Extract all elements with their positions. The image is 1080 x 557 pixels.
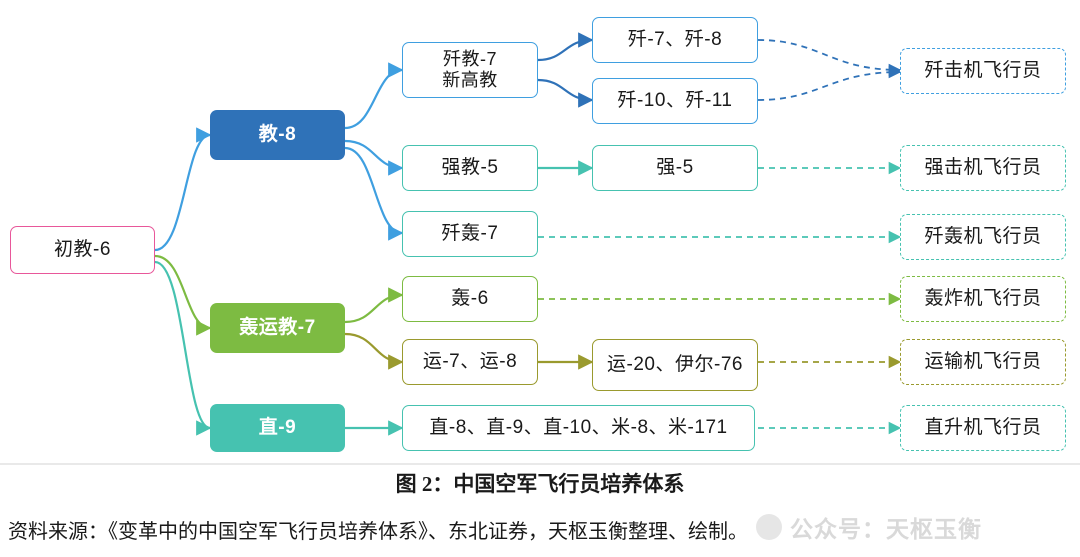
node-helicopter-pilot[interactable]: 直升机飞行员 [900,405,1066,451]
node-bomber-pilot[interactable]: 轰炸机飞行员 [900,276,1066,322]
node-helicopter-types[interactable]: 直-8、直-9、直-10、米-8、米-171 [402,405,755,451]
figure-caption: 图 2：中国空军飞行员培养体系 [0,468,1080,498]
node-jianhong-7[interactable]: 歼轰-7 [402,211,538,257]
node-yun-7-yun-8[interactable]: 运-7、运-8 [402,339,538,385]
node-yun-20-il-76[interactable]: 运-20、伊尔-76 [592,339,758,391]
node-jian-7-jian-8[interactable]: 歼-7、歼-8 [592,17,758,63]
node-transport-pilot[interactable]: 运输机飞行员 [900,339,1066,385]
node-qiang-5[interactable]: 强-5 [592,145,758,191]
flowchart-canvas: 初教-6 教-8 轰运教-7 直-9 歼教-7 新高教 强教-5 歼轰-7 轰-… [0,0,1080,468]
node-fighter-pilot[interactable]: 歼击机飞行员 [900,48,1066,94]
divider [0,463,1080,465]
node-hong-6[interactable]: 轰-6 [402,276,538,322]
node-qiangjiao-5[interactable]: 强教-5 [402,145,538,191]
node-fighter-bomber-pilot[interactable]: 歼轰机飞行员 [900,214,1066,260]
node-jian-10-jian-11[interactable]: 歼-10、歼-11 [592,78,758,124]
watermark-logo-icon [756,514,782,540]
node-jiao-8[interactable]: 教-8 [210,110,345,160]
watermark-text: 公众号：天枢玉衡 [790,510,982,544]
node-hongyunjiao-7[interactable]: 轰运教-7 [210,303,345,353]
watermark: 公众号：天枢玉衡 [756,510,982,544]
node-jianjiao-7-xingaojiao[interactable]: 歼教-7 新高教 [402,42,538,98]
node-zhi-9[interactable]: 直-9 [210,404,345,452]
node-chujiao-6[interactable]: 初教-6 [10,226,155,274]
node-attack-pilot[interactable]: 强击机飞行员 [900,145,1066,191]
